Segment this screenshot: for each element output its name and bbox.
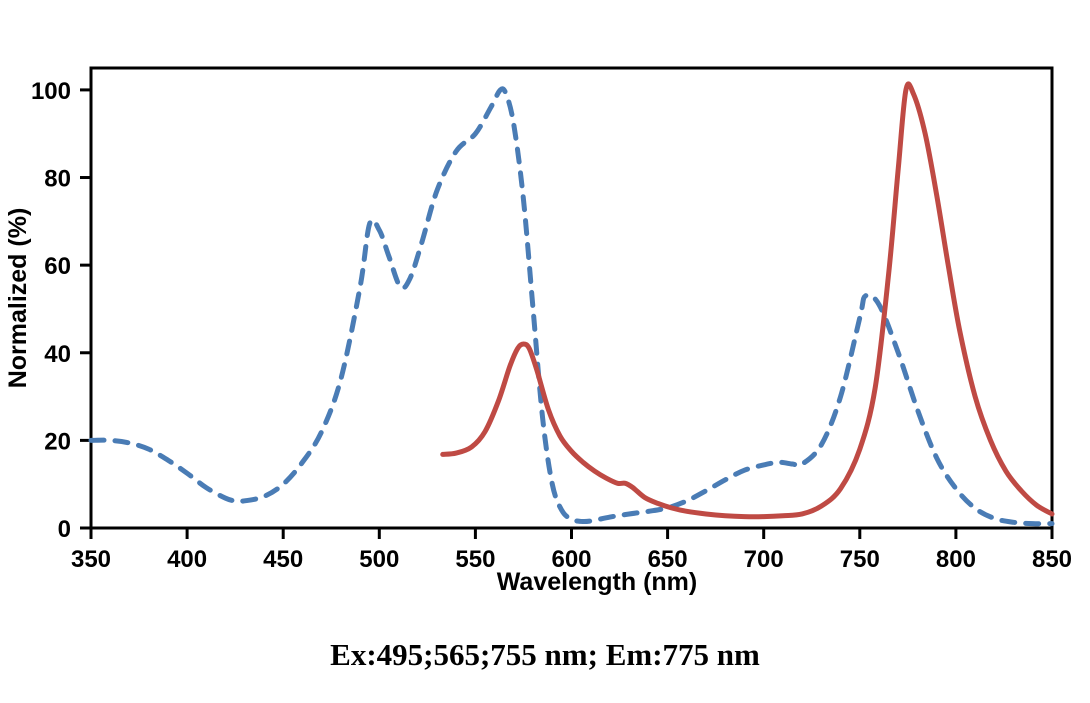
figure-caption: Ex:495;565;755 nm; Em:775 nm [0,637,1090,673]
x-tick-label: 750 [840,546,880,573]
y-tick-label: 20 [44,428,71,455]
x-tick-label: 350 [71,546,111,573]
chart-background [0,0,1090,703]
y-tick-label: 40 [44,341,71,368]
y-axis-title: Normalized (%) [4,208,32,389]
x-tick-label: 500 [359,546,399,573]
x-axis-title: Wavelength (nm) [497,568,697,596]
x-tick-label: 800 [936,546,976,573]
y-tick-label: 100 [31,78,71,105]
y-tick-label: 80 [44,166,71,193]
plot-area: 350400450500550600650700750800850 020406… [0,0,1090,703]
spectra-figure: PE/Cyanine7 Excitation and Emission Spec… [0,0,1090,703]
x-tick-label: 850 [1032,546,1072,573]
x-tick-label: 400 [167,546,207,573]
spectra-chart: 350400450500550600650700750800850 020406… [0,0,1090,703]
y-tick-label: 0 [58,516,71,543]
x-tick-label: 700 [744,546,784,573]
y-tick-label: 60 [44,253,71,280]
x-tick-label: 550 [455,546,495,573]
x-tick-label: 450 [263,546,303,573]
